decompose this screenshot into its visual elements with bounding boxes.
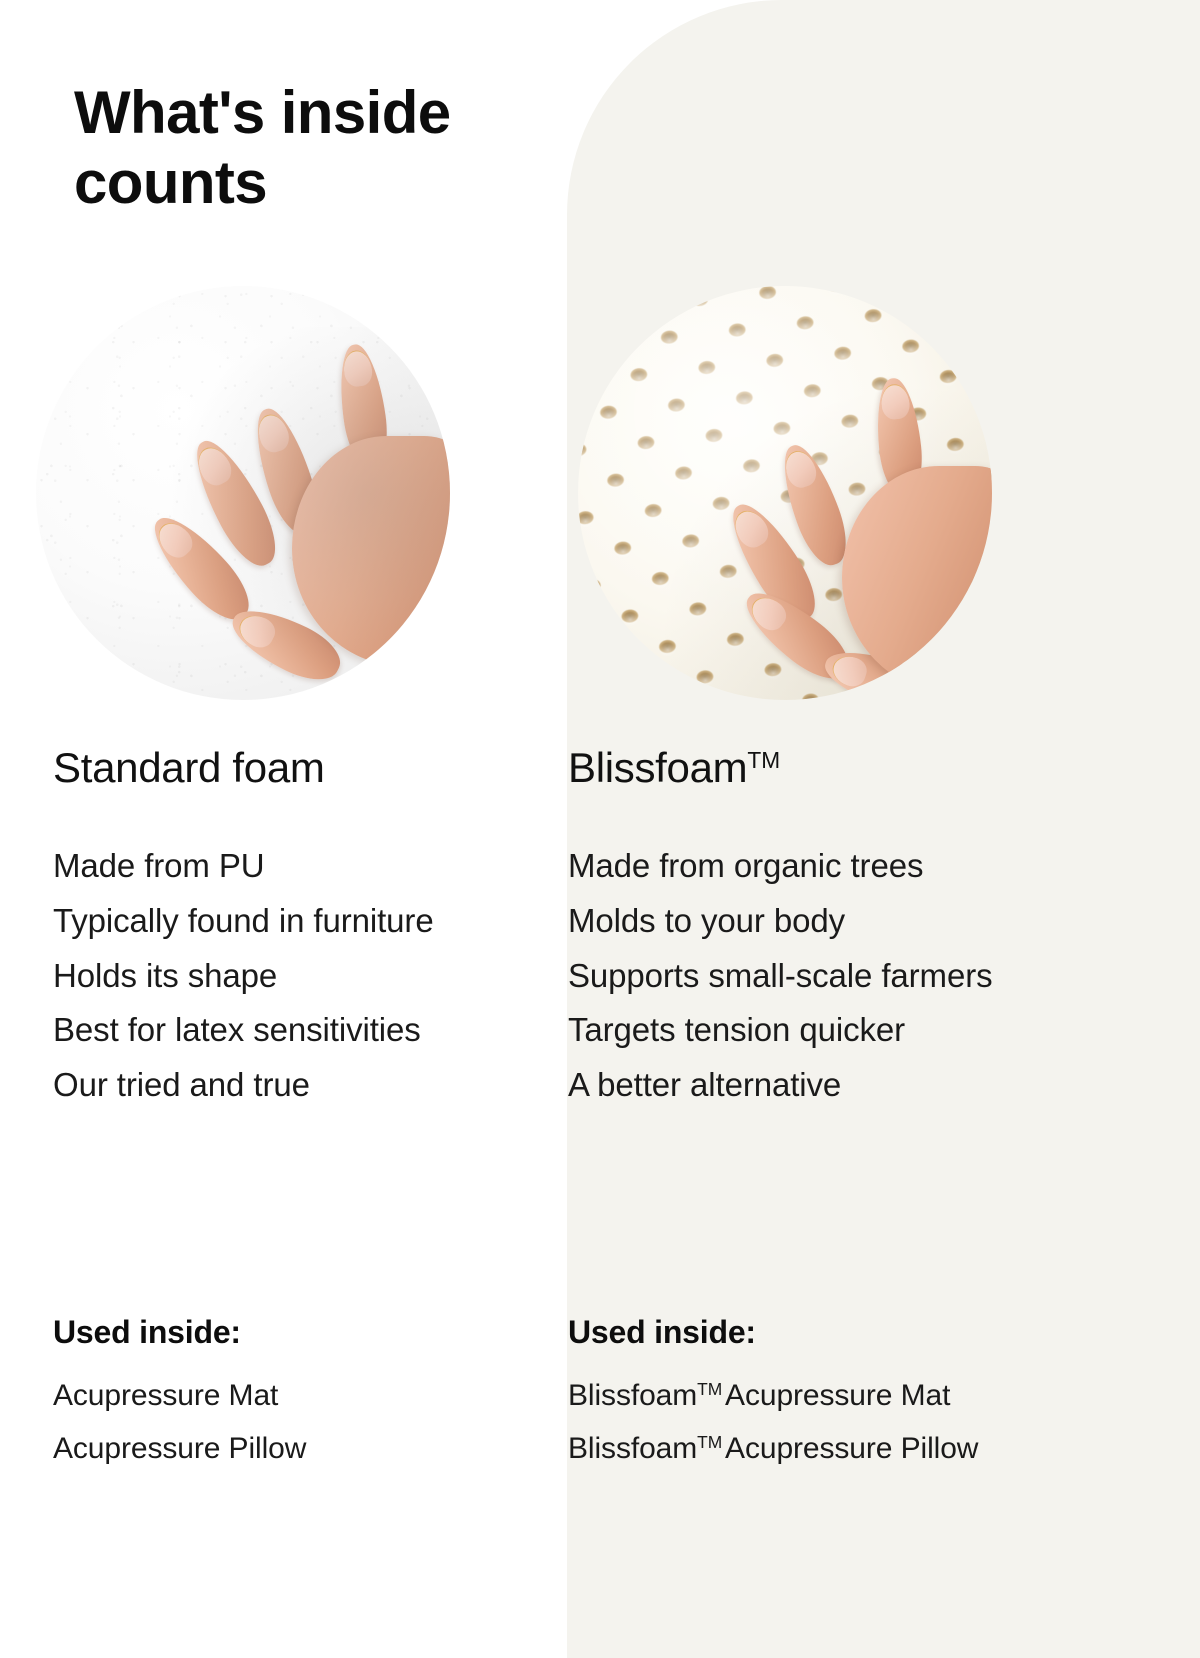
- finger: [141, 505, 261, 631]
- list-item: Targets tension quicker: [568, 1003, 1188, 1058]
- list-item: Made from PU: [53, 839, 553, 894]
- standard-foam-benefit-list: Made from PU Typically found in furnitur…: [53, 839, 553, 1113]
- product-brand: Blissfoam: [568, 1432, 697, 1465]
- list-item: Made from organic trees: [568, 839, 1188, 894]
- blissfoam-column: BlissfoamTM Made from organic trees Mold…: [568, 745, 1188, 1113]
- fingernail: [341, 349, 374, 389]
- trademark-symbol: TM: [697, 1432, 725, 1452]
- product-name: Acupressure Pillow: [725, 1432, 978, 1465]
- product-name: Acupressure Mat: [53, 1379, 278, 1412]
- blissfoam-image: [578, 286, 992, 700]
- hand-illustration-standard: [36, 286, 450, 700]
- finger: [334, 342, 393, 471]
- standard-foam-heading: Standard foam: [53, 745, 553, 791]
- list-item: Typically found in furniture: [53, 894, 553, 949]
- list-item: Acupressure Pillow: [53, 1422, 553, 1475]
- finger: [223, 597, 348, 691]
- palm: [292, 436, 450, 666]
- fingernail: [829, 652, 870, 690]
- fingernail: [234, 609, 280, 652]
- blissfoam-heading-text: Blissfoam: [568, 744, 747, 791]
- hand-illustration-blissfoam: [578, 286, 992, 700]
- trademark-symbol: TM: [747, 747, 780, 773]
- list-item: Supports small-scale farmers: [568, 949, 1188, 1004]
- product-brand: Blissfoam: [568, 1379, 697, 1412]
- fingernail: [880, 383, 912, 421]
- list-item: BlissfoamTMAcupressure Pillow: [568, 1422, 1188, 1475]
- list-item: Molds to your body: [568, 894, 1188, 949]
- fingernail: [780, 447, 820, 492]
- list-item: Holds its shape: [53, 949, 553, 1004]
- list-item: Our tried and true: [53, 1058, 553, 1113]
- trademark-symbol: TM: [697, 1379, 725, 1399]
- page-title: What's inside counts: [74, 78, 574, 217]
- fingernail: [254, 411, 293, 456]
- list-item: Best for latex sensitivities: [53, 1003, 553, 1058]
- used-inside-label: Used inside:: [53, 1314, 553, 1351]
- standard-foam-product-list: Acupressure Mat Acupressure Pillow: [53, 1369, 553, 1476]
- fingernail: [192, 442, 237, 491]
- standard-foam-image: [36, 286, 450, 700]
- used-inside-label: Used inside:: [568, 1314, 1188, 1351]
- standard-foam-used-inside: Used inside: Acupressure Mat Acupressure…: [53, 1314, 553, 1476]
- blissfoam-benefit-list: Made from organic trees Molds to your bo…: [568, 839, 1188, 1113]
- blissfoam-product-list: BlissfoamTMAcupressure Mat BlissfoamTMAc…: [568, 1369, 1188, 1476]
- list-item: A better alternative: [568, 1058, 1188, 1113]
- finger: [182, 431, 287, 574]
- list-item: BlissfoamTMAcupressure Mat: [568, 1369, 1188, 1422]
- list-item: Acupressure Mat: [53, 1369, 553, 1422]
- standard-foam-column: Standard foam Made from PU Typically fou…: [53, 745, 553, 1113]
- comparison-infographic: What's inside counts: [0, 0, 1200, 1658]
- blissfoam-used-inside: Used inside: BlissfoamTMAcupressure Mat …: [568, 1314, 1188, 1476]
- finger: [245, 402, 327, 539]
- fingernail: [728, 505, 774, 553]
- product-name: Acupressure Pillow: [53, 1432, 306, 1465]
- standard-foam-heading-text: Standard foam: [53, 744, 325, 791]
- fingernail: [152, 516, 198, 563]
- blissfoam-heading: BlissfoamTM: [568, 745, 1188, 791]
- product-name: Acupressure Mat: [725, 1379, 950, 1412]
